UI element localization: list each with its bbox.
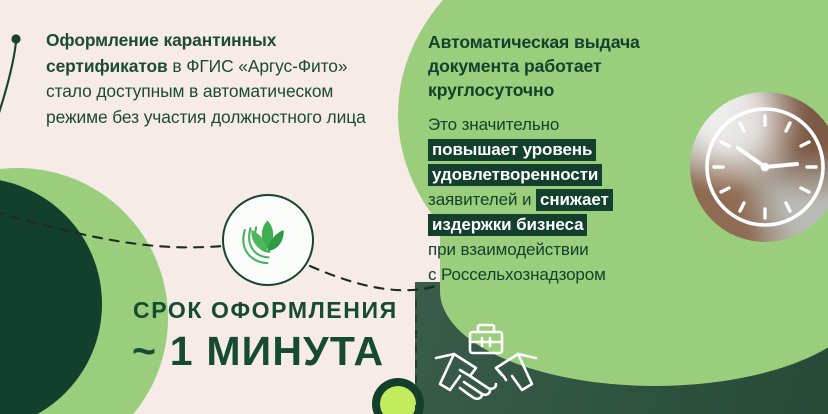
- highlight-snizhaet: снижает: [536, 189, 613, 211]
- certificate-line: Сертификат: [0, 324, 102, 341]
- right-body-line-6: при взаимодействии: [428, 237, 718, 262]
- highlight-udovletvorennosti: удовлетворенности: [428, 164, 602, 186]
- hook-dot-icon: [11, 34, 20, 43]
- right-body-line-3: удовлетворенности: [428, 162, 718, 187]
- certificate-line: Сертификат: [0, 289, 102, 306]
- certificate-line: Сертификат: [0, 341, 102, 358]
- certificate-line: Сертификат: [0, 203, 102, 220]
- infographic-canvas: СертификатСертификатСертификатСертификат…: [0, 0, 828, 414]
- certificate-line: Сертификат: [0, 238, 102, 255]
- argus-fito-leaf-emblem-icon: [222, 194, 314, 286]
- highlight-povyshaet: повышает уровень: [428, 139, 596, 161]
- hook-line: [0, 42, 16, 122]
- certificate-line: Сертификат: [0, 186, 102, 203]
- right-body-line-2: повышает уровень: [428, 137, 718, 162]
- certificate-line: Сертификат: [0, 220, 102, 237]
- right-body-line-4-plain: заявителей и: [428, 190, 536, 209]
- lime-dot-marker: [380, 386, 416, 414]
- headline-srok: СРОК ОФОРМЛЕНИЯ: [133, 297, 398, 324]
- left-paragraph: Оформление карантинных сертификатов в ФГ…: [46, 28, 366, 130]
- certificate-line: Сертификат: [0, 255, 102, 272]
- right-body-line-4: заявителей и снижает: [428, 187, 718, 212]
- certificate-repeat-text: СертификатСертификатСертификатСертификат…: [0, 186, 102, 375]
- certificate-line: Сертификат: [0, 272, 102, 289]
- headline-minuta: ~ 1 МИНУТА: [132, 328, 384, 375]
- certificate-line: Сертификат: [0, 358, 102, 375]
- right-body-line-7: с Россельхознадзором: [428, 262, 718, 287]
- highlight-izderzhki: издержки бизнеса: [428, 214, 587, 236]
- right-body: Это значительно повышает уровень удовлет…: [428, 112, 718, 287]
- right-heading: Автоматическая выдача документа работает…: [428, 30, 728, 102]
- certificate-line: Сертификат: [0, 306, 102, 323]
- handshake-briefcase-icon: [430, 318, 542, 404]
- right-body-line-5: издержки бизнеса: [428, 212, 718, 237]
- right-body-line-1: Это значительно: [428, 112, 718, 137]
